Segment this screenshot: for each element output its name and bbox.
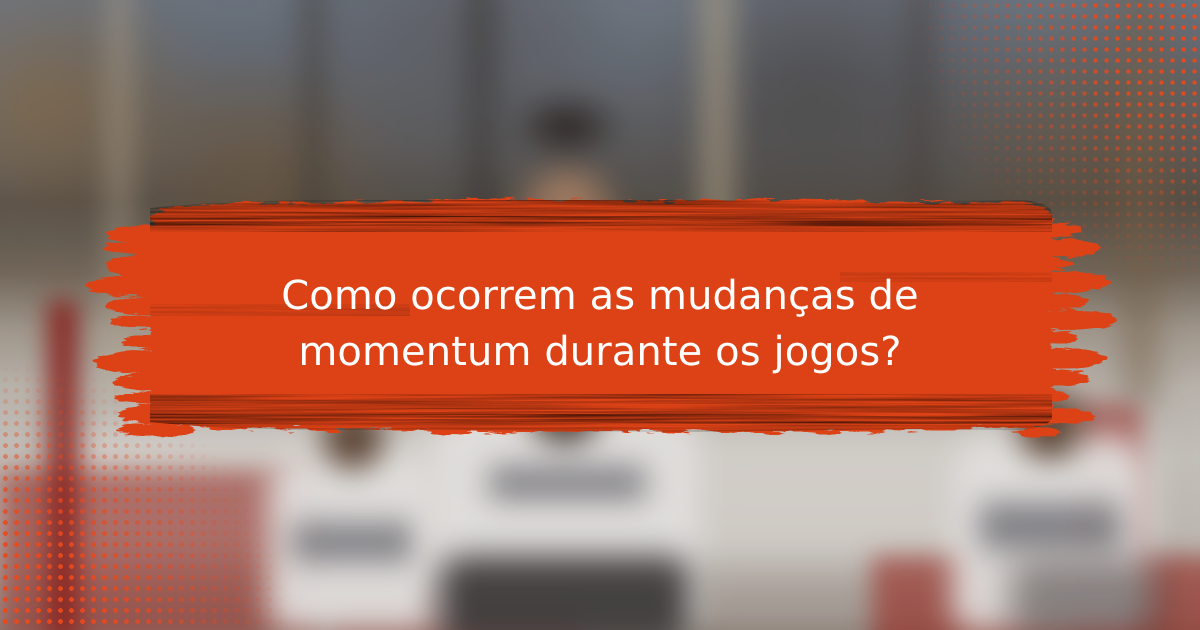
headline-text: Como ocorrem as mudanças de momentum dur…	[170, 268, 1030, 380]
social-share-card: Como ocorrem as mudanças de momentum dur…	[0, 0, 1200, 630]
